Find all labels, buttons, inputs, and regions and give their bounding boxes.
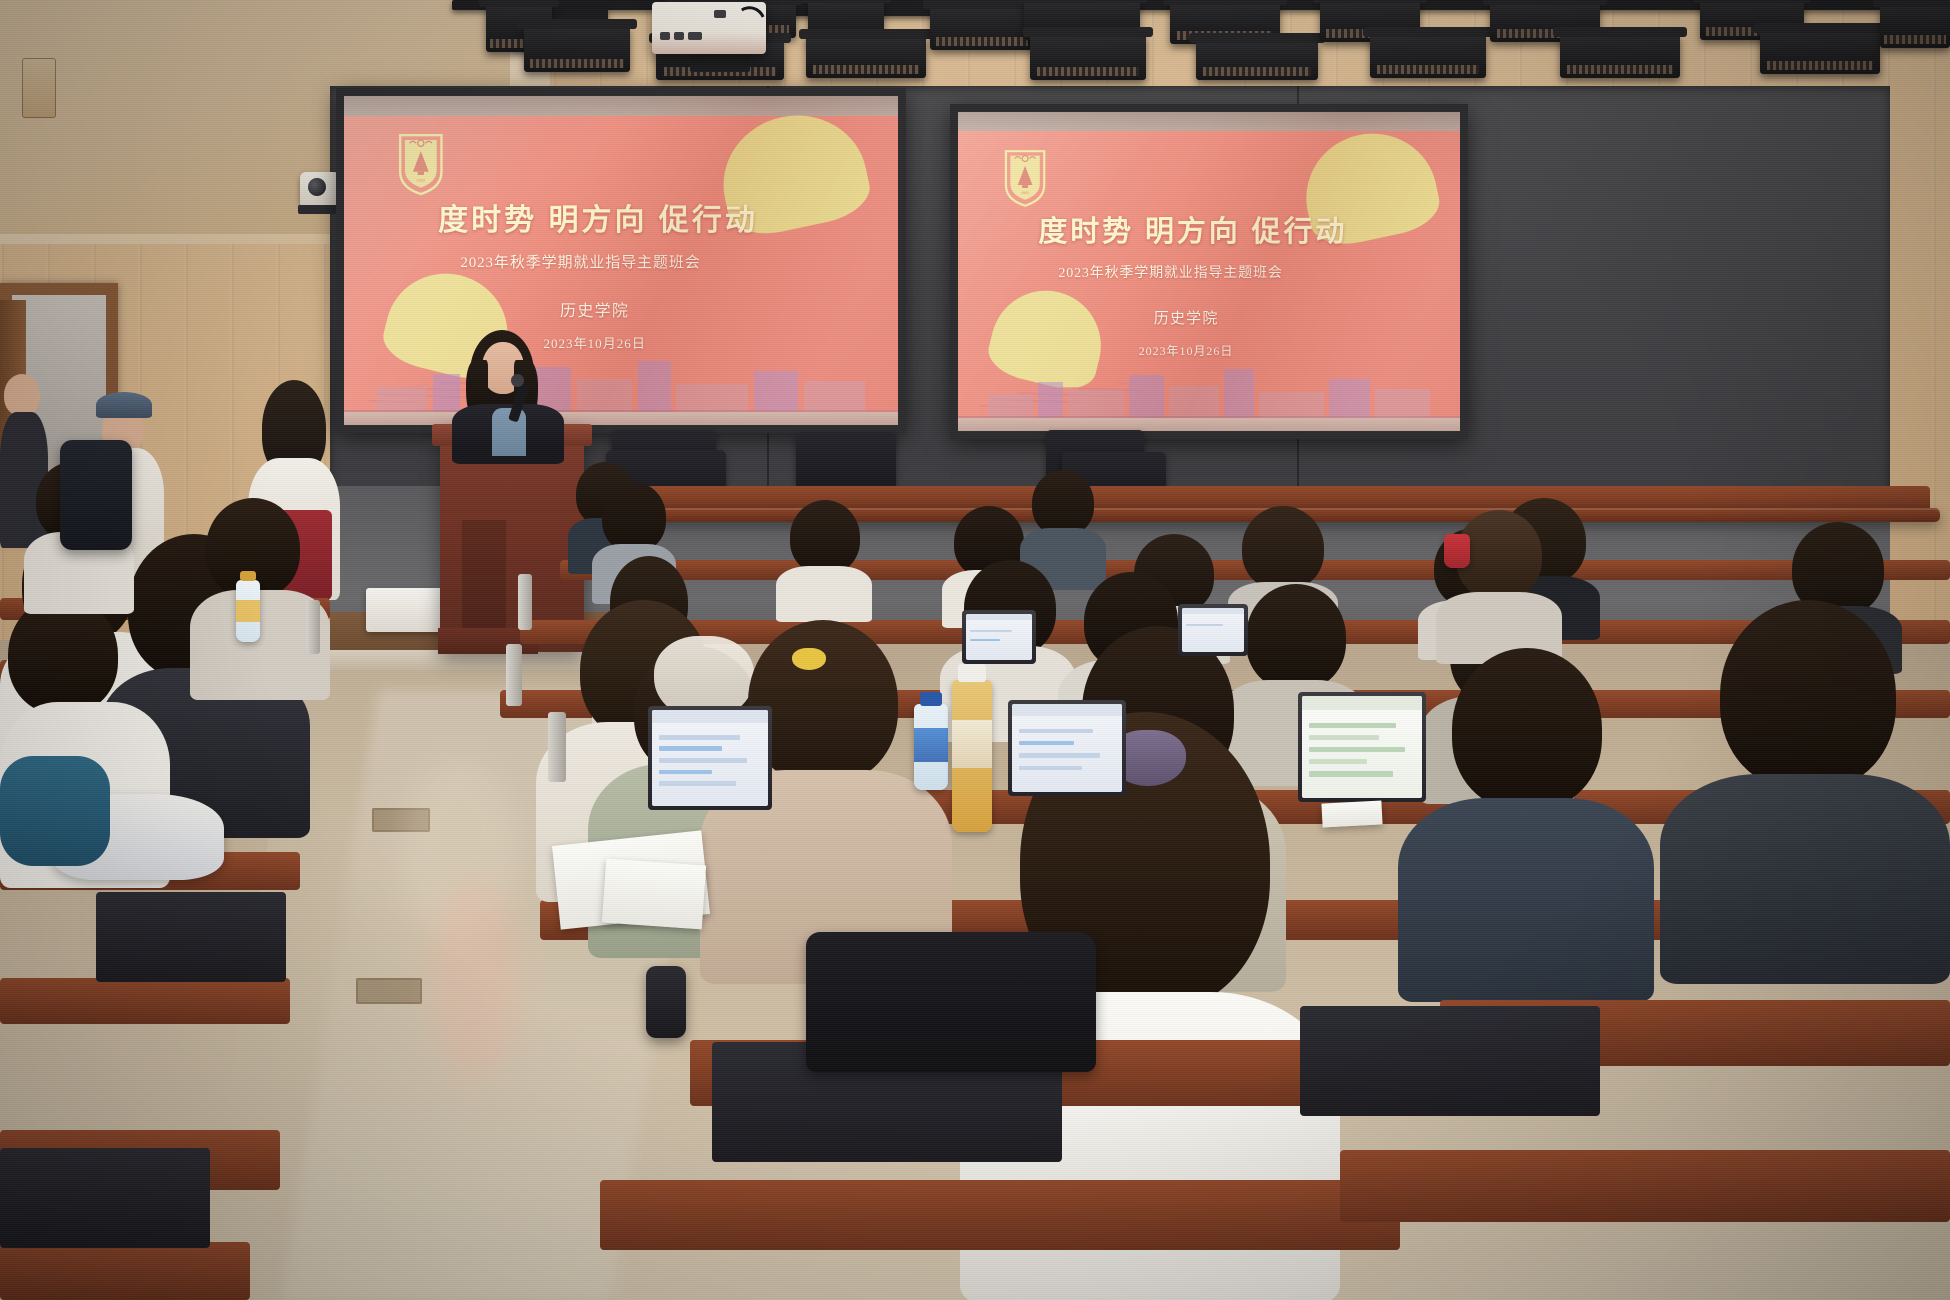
stage-light-fixture <box>1760 30 1880 74</box>
folding-seat <box>0 1148 210 1248</box>
audience-person <box>776 500 872 618</box>
audience-person <box>1660 600 1950 980</box>
bench-row-left <box>0 978 290 1024</box>
floor-access-plate <box>356 978 422 1004</box>
bench-row-foreground <box>0 1242 250 1300</box>
audience-person <box>1436 510 1562 660</box>
seat-armrest <box>518 574 532 630</box>
water-bottle[interactable] <box>914 704 948 790</box>
speaker-person <box>448 330 568 450</box>
ceiling-vent <box>22 58 56 118</box>
foreground-person <box>190 498 330 698</box>
jacket-on-seat <box>0 756 110 866</box>
laptop[interactable] <box>648 706 772 810</box>
stage-light-fixture <box>524 26 630 72</box>
stage-light-fixture <box>1880 4 1950 48</box>
stage-chair <box>796 432 896 490</box>
seat-armrest <box>548 712 566 782</box>
stage-light-fixture <box>1560 34 1680 78</box>
stage-light-fixture <box>1370 34 1486 78</box>
folding-seat <box>96 892 286 982</box>
camera-lens-icon <box>308 178 326 196</box>
audience-person <box>1398 648 1654 998</box>
stage-light-fixture <box>806 36 926 78</box>
slide-right: 1902 度时势 明方向 促行动 2023年秋季学期就业指导主题班会 历史学院 … <box>958 112 1460 431</box>
tea-bottle[interactable] <box>952 680 992 832</box>
laptop[interactable] <box>1008 700 1126 796</box>
slide-left: 1902 度时势 明方向 促行动 2023年秋季学期就业指导主题班会 历史学院 … <box>344 96 898 425</box>
water-bottle[interactable] <box>236 580 260 642</box>
backpack[interactable] <box>60 440 132 550</box>
backpack[interactable] <box>806 932 1096 1072</box>
seat-armrest <box>506 644 522 706</box>
right-projection-screen: 1902 度时势 明方向 促行动 2023年秋季学期就业指导主题班会 历史学院 … <box>950 104 1468 439</box>
paper-handout[interactable] <box>1321 800 1382 827</box>
stage-light-fixture <box>1196 40 1318 80</box>
red-cup[interactable] <box>1444 534 1470 568</box>
bench-row-foreground <box>600 1180 1400 1250</box>
paper-handout[interactable] <box>602 859 706 930</box>
laptop[interactable] <box>962 610 1036 664</box>
wall-camera <box>300 172 340 206</box>
laptop[interactable] <box>1178 604 1248 656</box>
stage-light-fixture <box>930 6 1034 50</box>
cap-icon <box>96 392 152 418</box>
left-projection-screen: 1902 度时势 明方向 促行动 2023年秋季学期就业指导主题班会 历史学院 … <box>336 88 906 433</box>
laptop[interactable] <box>1298 692 1426 802</box>
lecture-hall-photo: 1902 度时势 明方向 促行动 2023年秋季学期就业指导主题班会 历史学院 … <box>0 0 1950 1300</box>
bench-row-foreground <box>1340 1150 1950 1222</box>
folding-seat <box>1300 1006 1600 1116</box>
hair-tie <box>792 648 826 670</box>
stage-light-fixture <box>1030 34 1146 80</box>
bag-strap <box>646 966 686 1038</box>
seat-armrest <box>306 600 320 654</box>
ceiling-projector <box>652 2 766 54</box>
